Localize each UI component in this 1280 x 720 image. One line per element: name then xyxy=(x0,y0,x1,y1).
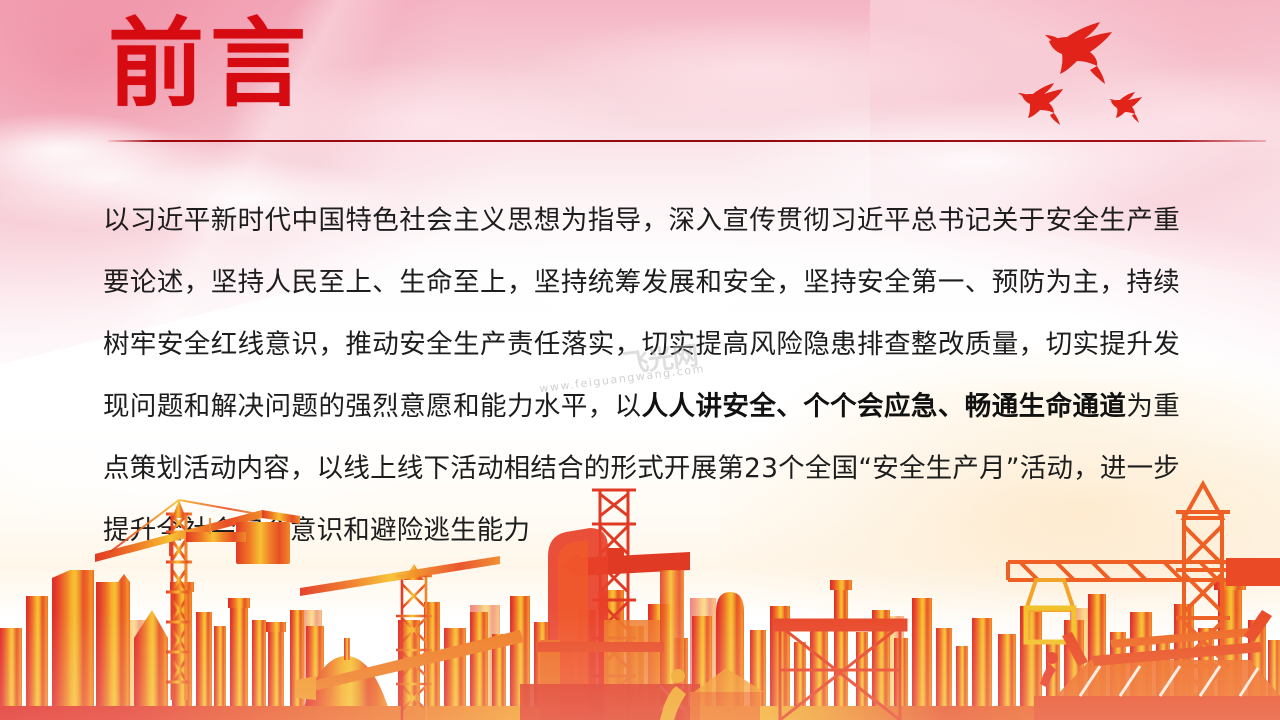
construction-skyline-graphic xyxy=(0,470,1280,720)
title-divider-rule xyxy=(108,140,1266,142)
peace-doves-icon xyxy=(1005,8,1190,138)
body-segment-bold: 人人讲安全、个个会应急、畅通生命通道 xyxy=(642,391,1127,422)
slide-root: 前言 以习近平新时代中国特色社会主义思想为指导，深入宣传贯彻习近平总书记关于安全… xyxy=(0,0,1280,720)
body-segment-1: 以习近平新时代中国特色社会主义思想为指导，深入宣传贯彻习近平总书记关于安全生产重… xyxy=(103,205,1180,422)
